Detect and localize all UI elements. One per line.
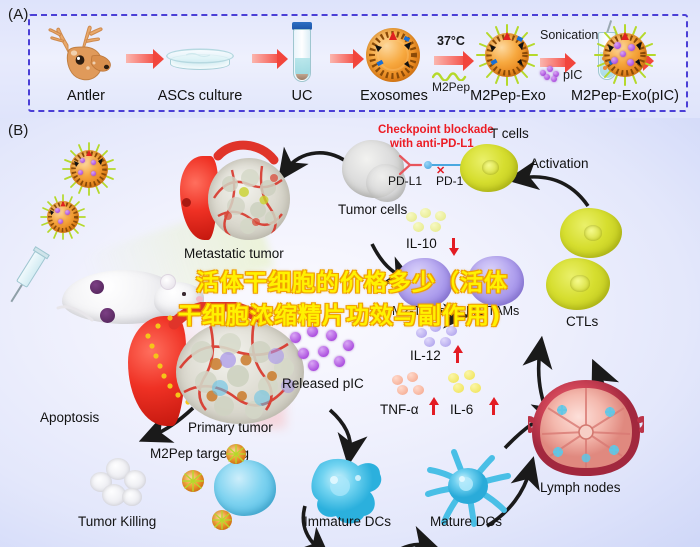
stage-label-uc: UC <box>278 88 326 104</box>
stage-label-ascs-culture: ASCs culture <box>152 88 248 104</box>
figure-root: (A) <box>0 0 700 547</box>
label-t-cells: T cells <box>490 126 529 141</box>
m2-tam-cell <box>396 258 452 308</box>
stage-label-exosomes: Exosomes <box>356 88 432 104</box>
il-12-up-arrow <box>456 352 459 363</box>
ultracentrifuge-tube-illustration <box>290 22 314 84</box>
stage-label-m2pep-exo-pic: M2Pep-Exo(pIC) <box>560 88 690 104</box>
mouse-tumor-spot-2 <box>100 308 115 323</box>
condition-pic: pIC <box>563 68 582 82</box>
syringe-illustration <box>0 245 62 316</box>
targeting-exosome-3 <box>212 510 232 530</box>
deer-antler-illustration <box>48 22 124 84</box>
il10-cytokine-dots <box>406 208 452 234</box>
label-apoptosis: Apoptosis <box>40 410 99 425</box>
metastatic-tumor-illustration <box>178 138 296 248</box>
label-mature-dcs: Mature DCs <box>430 514 502 529</box>
il-10-down-arrow <box>452 238 455 249</box>
targeted-macrophage <box>214 460 276 516</box>
free-exosome-particle-1 <box>62 142 116 196</box>
condition-sonication: Sonication <box>540 28 598 42</box>
ctl-cell-1 <box>560 208 622 258</box>
label-il-6: IL-6 <box>450 402 473 417</box>
label-ctls: CTLs <box>566 314 598 329</box>
label-lymph-nodes: Lymph nodes <box>540 480 621 495</box>
free-exosome-particle-2 <box>40 194 86 240</box>
label-m1-tams: M1-TAMs <box>466 304 519 318</box>
label-metastatic-tumor: Metastatic tumor <box>184 246 284 261</box>
anti-pdl1-antibody-icon <box>398 154 422 176</box>
arrow-antler-to-culture <box>126 54 154 63</box>
panel-a-letter: (A) <box>8 6 29 23</box>
panel-b-letter: (B) <box>8 122 29 139</box>
tnf-alpha-up-arrow <box>432 404 435 415</box>
label-pd-l1: PD-L1 <box>388 174 422 188</box>
apoptotic-debris-cluster <box>90 454 154 512</box>
tnf-alpha-cytokine-dots <box>392 372 436 398</box>
panel-a: (A) <box>0 0 700 118</box>
lymph-node-illustration <box>528 376 644 482</box>
label-tumor-cells: Tumor cells <box>338 202 407 217</box>
label-released-pic: Released pIC <box>282 376 364 391</box>
targeting-exosome-1 <box>182 470 204 492</box>
label-checkpoint-blockade-line1: Checkpoint blockade <box>378 124 494 136</box>
exosome-particle <box>366 28 420 82</box>
label-tumor-killing: Tumor Killing <box>78 514 156 529</box>
condition-temperature: 37°C <box>437 34 465 48</box>
label-primary-tumor: Primary tumor <box>188 420 273 435</box>
petri-dish-illustration <box>166 46 234 72</box>
label-m2-tams: M2-TAMs <box>392 304 445 318</box>
targeting-exosome-2 <box>226 444 246 464</box>
label-tnf-alpha: TNF-α <box>380 402 419 417</box>
label-checkpoint-blockade-line2: with anti-PD-L1 <box>390 138 474 150</box>
label-immature-dcs: Immature DCs <box>304 514 391 529</box>
label-il-10: IL-10 <box>406 236 437 251</box>
pic-dot-cluster <box>540 66 560 80</box>
il-6-up-arrow <box>492 404 495 415</box>
released-pic-dots <box>290 326 356 374</box>
ctl-cell-2 <box>546 258 610 310</box>
arrow-culture-to-uc <box>252 54 278 63</box>
label-il-12: IL-12 <box>410 348 441 363</box>
pd-receptor-ball <box>424 161 432 169</box>
panel-b: (B) <box>0 118 700 547</box>
m2pep-exosome-pic-particle <box>594 24 656 86</box>
label-activation: Activation <box>530 156 589 171</box>
stage-label-antler: Antler <box>48 88 124 104</box>
stage-label-m2pep-exo: M2Pep-Exo <box>462 88 554 104</box>
m2pep-peptide-squiggle <box>432 68 472 80</box>
arrow-uc-to-exosomes <box>330 54 354 63</box>
t-cell-1 <box>460 144 518 192</box>
arrow-exosome-to-m2pep-exo <box>434 56 464 65</box>
il6-cytokine-dots <box>448 370 492 396</box>
mouse-tumor-spot-1 <box>90 280 104 294</box>
m2pep-exosome-particle <box>476 24 538 86</box>
m1-tam-cell <box>468 256 524 306</box>
label-pd-1: PD-1 <box>436 174 463 188</box>
